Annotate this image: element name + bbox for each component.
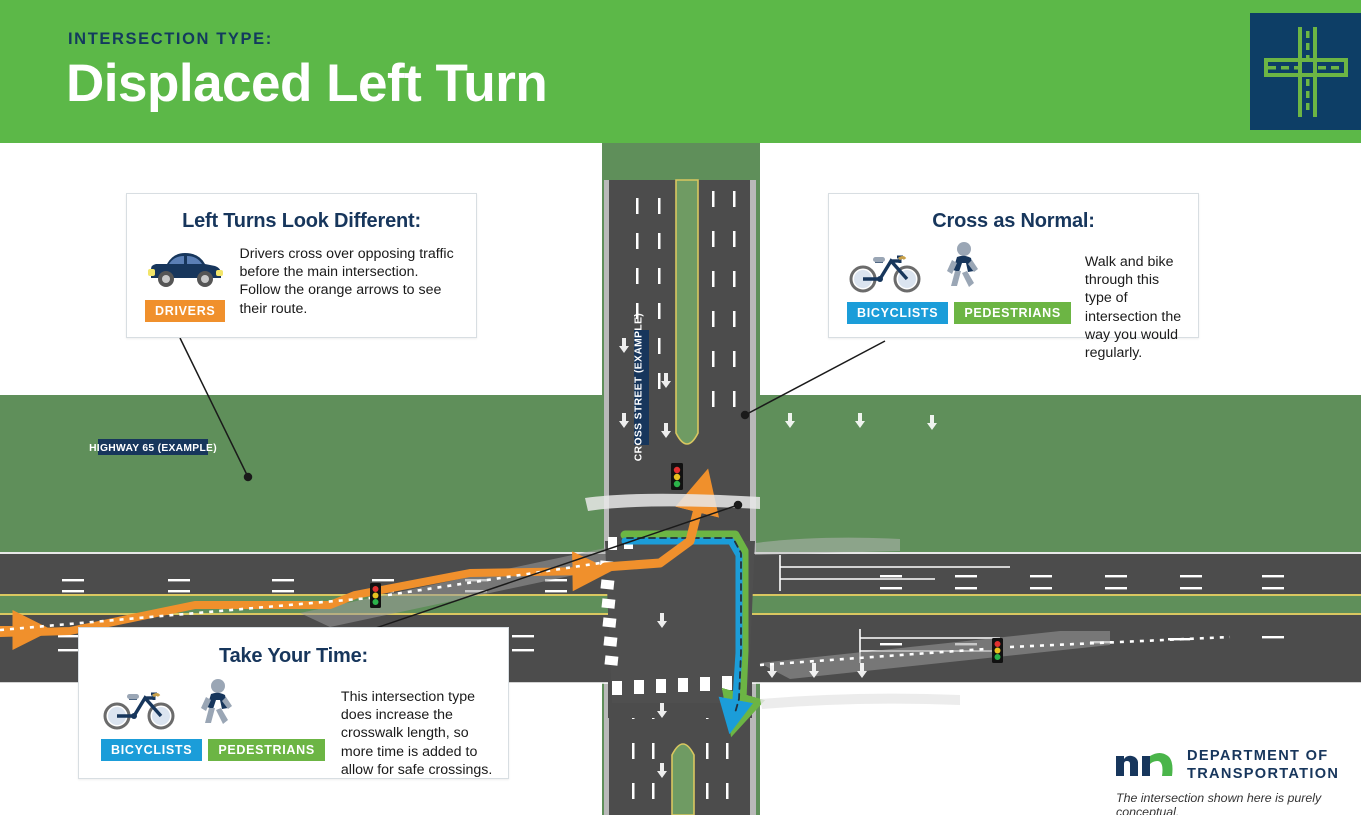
callout-card-left-turns: Left Turns Look Different: bbox=[126, 193, 477, 338]
callout-card-cross-as-normal: Cross as Normal: bbox=[828, 193, 1199, 338]
card-badges: DRIVERS bbox=[145, 300, 225, 322]
card-icon-group: DRIVERS bbox=[145, 245, 225, 322]
page-header: INTERSECTION TYPE: Displaced Left Turn bbox=[0, 0, 1361, 143]
traffic-signal-center bbox=[671, 463, 683, 490]
card-title: Take Your Time: bbox=[79, 645, 508, 668]
card-badges: BICYCLISTS PEDESTRIANS bbox=[847, 302, 1071, 324]
highway-label-text: HIGHWAY 65 (EXAMPLE) bbox=[89, 443, 217, 454]
header-eyebrow: INTERSECTION TYPE: bbox=[68, 30, 273, 49]
mndot-logo: DEPARTMENT OF TRANSPORTATION bbox=[1114, 748, 1339, 783]
intersection-logo-icon bbox=[1250, 13, 1361, 130]
traffic-signal-west bbox=[370, 583, 381, 608]
cross-street-label-text: CROSS STREET (EXAMPLE) bbox=[634, 313, 645, 461]
card-icon-group: BICYCLISTS PEDESTRIANS bbox=[847, 241, 1071, 324]
pedestrian-icon bbox=[189, 678, 241, 735]
card-badges: BICYCLISTS PEDESTRIANS bbox=[101, 739, 325, 761]
badge-drivers: DRIVERS bbox=[145, 300, 225, 322]
badge-pedestrians: PEDESTRIANS bbox=[208, 739, 325, 761]
road-label-highway: HIGHWAY 65 (EXAMPLE) bbox=[89, 439, 217, 455]
badge-bicyclists: BICYCLISTS bbox=[101, 739, 202, 761]
mndot-mn-logo-icon bbox=[1114, 748, 1176, 783]
bicycle-icon bbox=[101, 682, 179, 735]
card-description: Walk and bike through this type of inter… bbox=[1085, 253, 1186, 362]
bicycle-icon bbox=[847, 245, 925, 298]
agency-line-2: TRANSPORTATION bbox=[1187, 766, 1339, 782]
infographic-page: INTERSECTION TYPE: Displaced Left Turn bbox=[0, 0, 1361, 815]
disclaimer-text: The intersection shown here is purely co… bbox=[1116, 791, 1361, 815]
agency-line-1: DEPARTMENT OF bbox=[1187, 748, 1328, 764]
badge-pedestrians: PEDESTRIANS bbox=[954, 302, 1071, 324]
card-title: Cross as Normal: bbox=[829, 210, 1198, 233]
card-icon-group: BICYCLISTS PEDESTRIANS bbox=[101, 678, 325, 761]
card-description: This intersection type does increase the… bbox=[341, 688, 496, 779]
traffic-signal-east bbox=[992, 638, 1003, 663]
pedestrian-icon bbox=[935, 241, 987, 298]
callout-card-take-your-time: Take Your Time: bbox=[78, 627, 509, 779]
car-icon bbox=[145, 245, 225, 296]
mndot-wordmark: DEPARTMENT OF TRANSPORTATION bbox=[1187, 748, 1339, 782]
badge-bicyclists: BICYCLISTS bbox=[847, 302, 948, 324]
card-title: Left Turns Look Different: bbox=[127, 210, 476, 233]
page-title: Displaced Left Turn bbox=[66, 55, 547, 113]
road-label-cross-street: CROSS STREET (EXAMPLE) bbox=[634, 313, 650, 461]
card-description: Drivers cross over opposing traffic befo… bbox=[239, 245, 462, 318]
